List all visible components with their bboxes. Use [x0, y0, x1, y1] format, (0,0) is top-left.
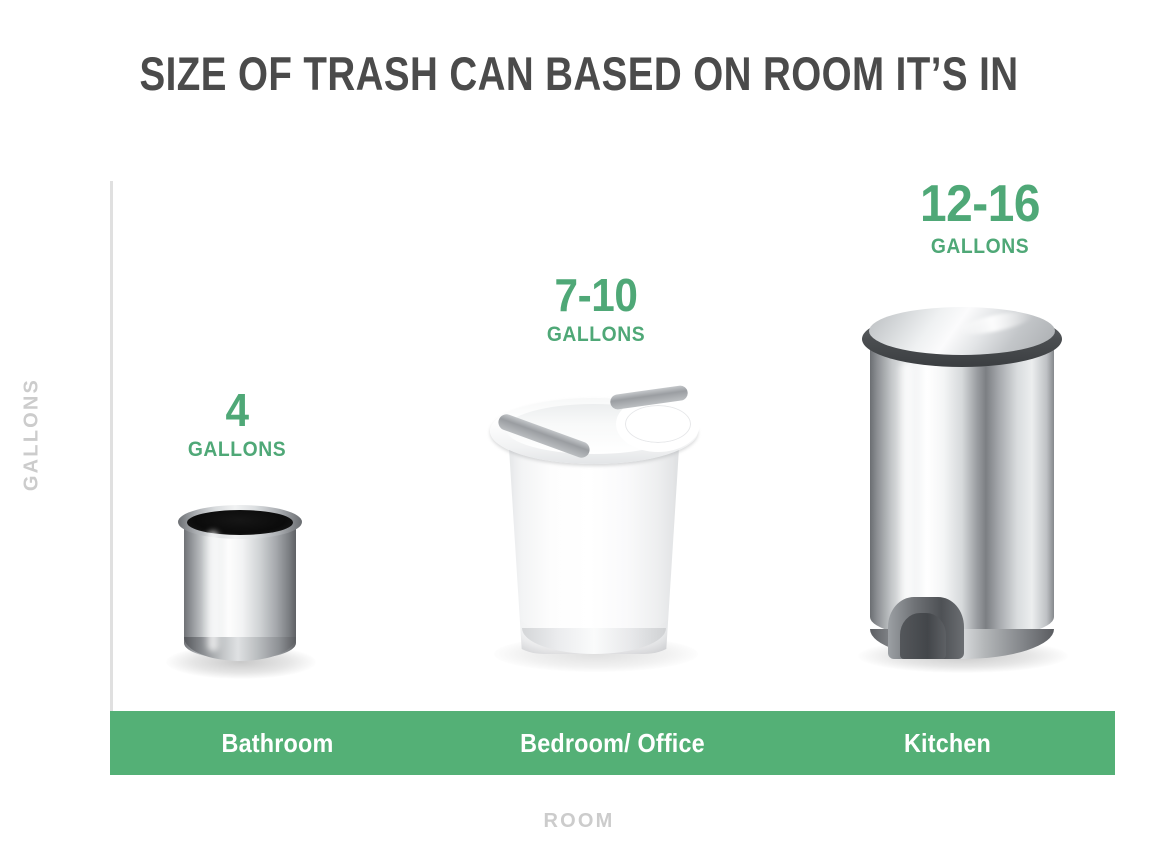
value-unit-bedroom-office: GALLONS — [458, 323, 734, 347]
page-title: SIZE OF TRASH CAN BASED ON ROOM IT’S IN — [104, 46, 1054, 101]
category-label-bedroom-office: Bedroom/ Office — [462, 728, 764, 759]
value-label-bathroom: 4 GALLONS — [87, 387, 387, 462]
value-number-bathroom: 4 — [99, 387, 375, 433]
trash-can-bedroom-office-icon — [490, 378, 698, 670]
category-axis-bar: Bathroom Bedroom/ Office Kitchen — [110, 711, 1115, 775]
can-pedal-shade-kitchen — [900, 613, 946, 659]
can-highlight-bathroom — [204, 531, 222, 651]
trash-can-bathroom-icon — [178, 505, 302, 675]
value-unit-kitchen: GALLONS — [842, 235, 1118, 259]
value-number-bedroom-office: 7-10 — [458, 272, 734, 318]
infographic-root: SIZE OF TRASH CAN BASED ON ROOM IT’S IN … — [0, 0, 1158, 858]
category-label-kitchen: Kitchen — [797, 728, 1099, 759]
y-axis-label: GALLONS — [21, 370, 44, 500]
category-label-bathroom: Bathroom — [127, 728, 429, 759]
x-axis-label: ROOM — [0, 810, 1158, 833]
can-highlight-kitchen — [896, 363, 918, 625]
value-label-bedroom-office: 7-10 GALLONS — [446, 272, 746, 347]
value-number-kitchen: 12-16 — [842, 178, 1118, 230]
can-opening-bathroom — [187, 510, 293, 535]
value-unit-bathroom: GALLONS — [99, 438, 375, 462]
value-label-kitchen: 12-16 GALLONS — [830, 178, 1130, 259]
trash-can-kitchen-icon — [862, 303, 1062, 671]
